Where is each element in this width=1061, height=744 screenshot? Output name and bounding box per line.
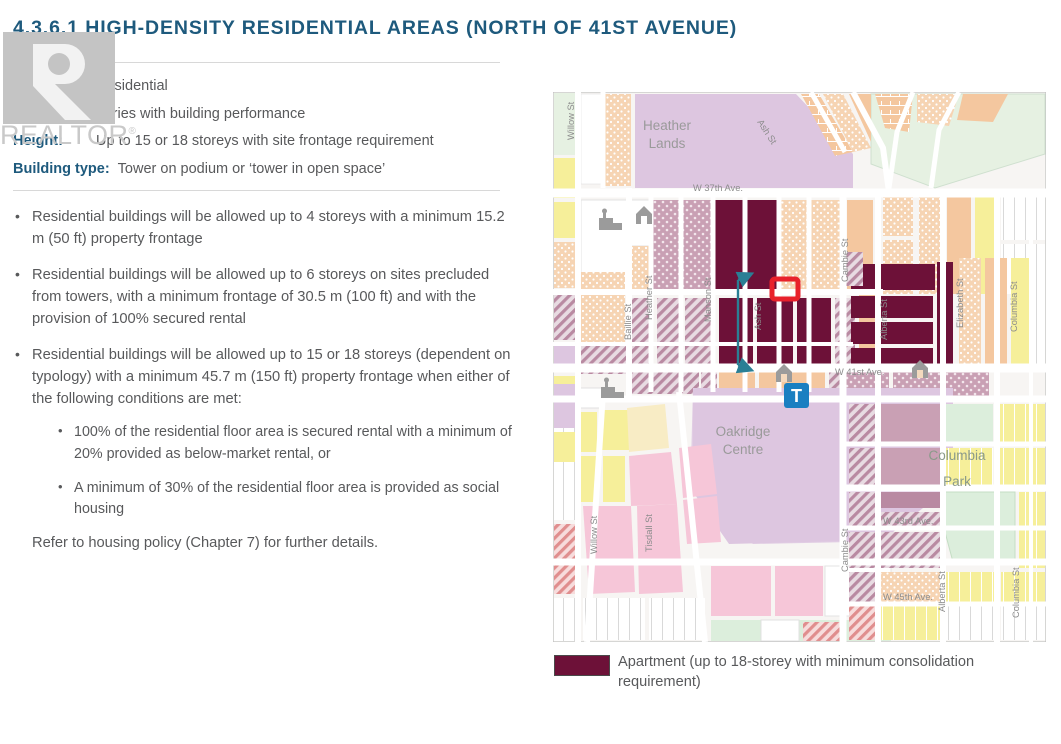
place-label-oakridge-line2: Centre — [723, 442, 764, 457]
street-label-baillie-st: Baillie St — [623, 303, 633, 340]
street-label-alberta-st-south: Alberta St — [937, 571, 947, 612]
street-label-willow-st-south: Willow St — [589, 515, 599, 554]
spec-label-height: Height: — [13, 132, 96, 151]
street-label-willow-st-north: Willow St — [566, 101, 576, 140]
spec-table: Uses: Residential Density: Varies with b… — [13, 77, 513, 178]
street-label-tisdall-st: Tisdall St — [644, 514, 654, 552]
legend-label-apartment: Apartment (up to 18-storey with minimum … — [618, 653, 998, 692]
spec-row-building-type: Building type: Tower on podium or ‘tower… — [13, 160, 513, 179]
street-label-cambie-st-south: Cambie St — [840, 528, 850, 572]
place-label-columbia-park-line1: Columbia — [928, 448, 986, 463]
list-item: Residential buildings will be allowed up… — [13, 265, 513, 331]
spec-label-density: Density: — [13, 105, 96, 124]
bullet-text: Residential buildings will be allowed up… — [32, 267, 489, 327]
list-item: Residential buildings will be allowed up… — [13, 207, 513, 251]
spec-value-uses: Residential — [96, 77, 513, 96]
street-label-manson-st: Manson St — [703, 277, 713, 322]
street-label-w-43rd-ave: W 43rd Ave. — [883, 516, 933, 526]
spec-row-density: Density: Varies with building performanc… — [13, 105, 513, 124]
street-label-alberta-st: Alberta St — [879, 299, 889, 340]
street-label-columbia-st-south: Columbia St — [1011, 567, 1021, 618]
place-label-heather-lands-line1: Heather — [643, 118, 692, 133]
document-page: REALTOR® 4.3.6.1 HIGH-DENSITY RESIDENTIA… — [0, 0, 1061, 744]
spec-value-density: Varies with building performance — [96, 105, 513, 124]
spec-label-building-type: Building type: — [13, 160, 118, 179]
street-label-w-45th-ave: W 45th Ave. — [883, 592, 933, 602]
bullet-text: Residential buildings will be allowed up… — [32, 209, 505, 247]
street-label-w-37th-ave: W 37th Ave. — [693, 183, 743, 193]
bullet-text: Residential buildings will be allowed up… — [32, 347, 510, 407]
place-label-oakridge-line1: Oakridge — [716, 424, 771, 439]
sub-bullet-text: 100% of the residential floor area is se… — [74, 424, 512, 461]
spec-value-building-type: Tower on podium or ‘tower in open space’ — [118, 160, 513, 179]
spec-value-height: Up to 15 or 18 storeys with site frontag… — [96, 132, 513, 151]
spec-label-uses: Uses: — [13, 77, 96, 96]
map-legend: Apartment (up to 18-storey with minimum … — [554, 653, 1024, 692]
list-item: Residential buildings will be allowed up… — [13, 345, 513, 521]
policy-bullet-list: Residential buildings will be allowed up… — [13, 207, 513, 554]
divider-bottom — [13, 190, 500, 191]
policy-sub-bullet-list: 100% of the residential floor area is se… — [32, 422, 513, 520]
left-content-column: Uses: Residential Density: Varies with b… — [13, 62, 513, 555]
zoning-map[interactable]: T Heather Lands Oakridge Centre Columbia… — [553, 92, 1046, 642]
transit-station-icon[interactable]: T — [784, 383, 809, 408]
page-title: 4.3.6.1 HIGH-DENSITY RESIDENTIAL AREAS (… — [13, 17, 737, 40]
legend-swatch-apartment — [554, 655, 610, 676]
spec-row-uses: Uses: Residential — [13, 77, 513, 96]
street-label-columbia-st: Columbia St — [1009, 281, 1019, 332]
street-label-elizabeth-st: Elizabeth St — [955, 278, 965, 328]
closing-note: Refer to housing policy (Chapter 7) for … — [13, 533, 513, 555]
spec-row-height: Height: Up to 15 or 18 storeys with site… — [13, 132, 513, 151]
map-canvas[interactable]: T Heather Lands Oakridge Centre Columbia… — [553, 92, 1046, 642]
list-item: A minimum of 30% of the residential floo… — [58, 478, 513, 521]
svg-text:T: T — [791, 386, 802, 406]
divider-top — [13, 62, 500, 63]
place-label-heather-lands-line2: Lands — [649, 136, 686, 151]
street-label-ash-st: Ash St — [753, 302, 763, 330]
list-item: 100% of the residential floor area is se… — [58, 422, 513, 465]
street-label-cambie-st-north: Cambie St — [840, 238, 850, 282]
sub-bullet-text: A minimum of 30% of the residential floo… — [74, 480, 499, 517]
street-label-w-41st-ave: W 41st Ave. — [835, 367, 884, 377]
place-label-columbia-park-line2: Park — [943, 474, 971, 489]
street-label-heather-st: Heather St — [644, 275, 654, 320]
